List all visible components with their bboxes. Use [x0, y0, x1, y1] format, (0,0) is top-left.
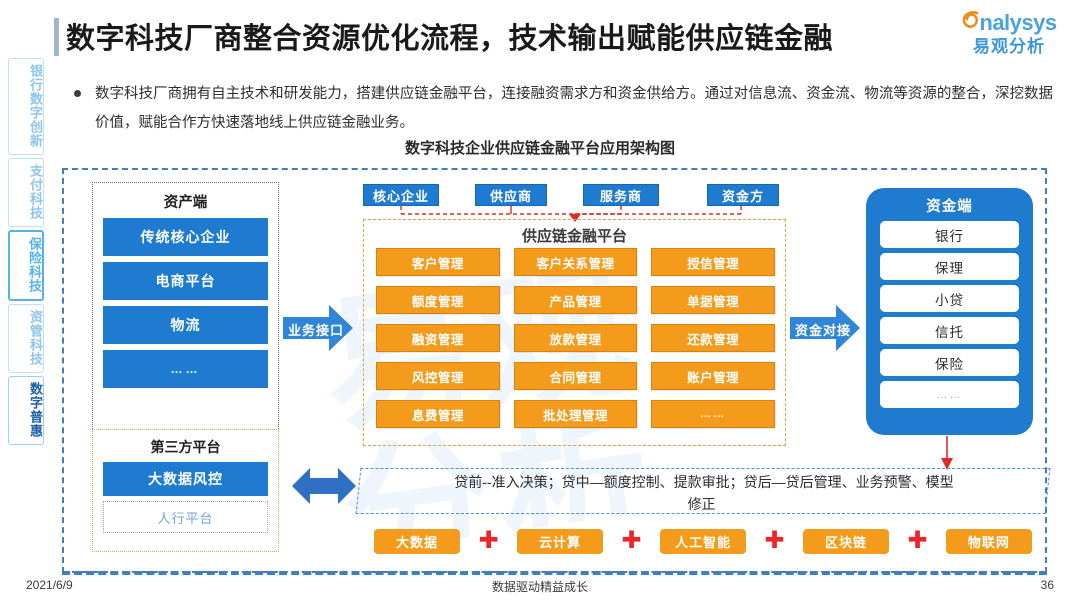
page-header: 数字科技厂商整合资源优化流程，技术输出赋能供应链金融 nalysys 易观分析	[0, 0, 1080, 68]
plus-icon-2: ✚	[621, 531, 641, 551]
fund-panel-title: 资金端	[866, 195, 1033, 216]
sidebar-item-insurance[interactable]: 保险科技	[8, 230, 44, 301]
business-interface-arrow: 业务接口	[283, 303, 353, 353]
module-quota-management[interactable]: 额度管理	[376, 286, 500, 314]
third-party-item-big-data-risk[interactable]: 大数据风控	[103, 462, 268, 496]
lifecycle-line-1: 贷前--准入决策；贷中—额度控制、提款审批；贷后—贷后管理、业务预警、模型	[382, 471, 1026, 493]
module-interest-fee[interactable]: 息费管理	[376, 400, 500, 428]
sidebar-item-inclusive-finance[interactable]: 数字普惠	[8, 376, 44, 445]
fund-side-panel: 资金端 银行 保理 小贷 信托 保险 ……	[866, 188, 1033, 435]
platform-title: 供应链金融平台	[364, 225, 785, 246]
plus-icon-1: ✚	[478, 531, 498, 551]
asset-panel-title: 资产端	[93, 191, 278, 212]
tech-cloud-computing[interactable]: 云计算	[517, 529, 603, 554]
footer-divider	[62, 571, 1047, 575]
tech-blockchain[interactable]: 区块链	[803, 529, 889, 554]
technology-stack-row: 大数据 ✚ 云计算 ✚ 人工智能 ✚ 区块链 ✚ 物联网	[358, 524, 1048, 558]
diagram-title: 数字科技企业供应链金融平台应用架构图	[0, 137, 1080, 158]
module-risk-control[interactable]: 风控管理	[376, 362, 500, 390]
asset-item-ecommerce[interactable]: 电商平台	[103, 262, 268, 300]
logo-wordmark: nalysys	[950, 10, 1068, 37]
asset-side-panel: 资产端 传统核心企业 电商平台 物流 ……	[92, 182, 279, 435]
asset-item-logistics[interactable]: 物流	[103, 306, 268, 344]
analysys-logo: nalysys 易观分析	[950, 10, 1068, 62]
tech-iot[interactable]: 物联网	[946, 529, 1032, 554]
fund-item-factoring[interactable]: 保理	[880, 253, 1019, 280]
platform-module-grid: 客户管理 客户关系管理 授信管理 额度管理 产品管理 单据管理 融资管理 放款管…	[376, 248, 775, 428]
third-party-item-pboc-platform[interactable]: 人行平台	[103, 501, 268, 533]
fund-item-insurance[interactable]: 保险	[880, 349, 1019, 376]
business-interface-label: 业务接口	[287, 320, 345, 339]
intro-paragraph: 数字科技厂商拥有自主技术和研发能力，搭建供应链金融平台，连接融资需求方和资金供给…	[95, 80, 1053, 138]
logo-chinese-text: 易观分析	[950, 37, 1068, 57]
asset-item-more[interactable]: ……	[103, 350, 268, 388]
supply-chain-platform: 供应链金融平台 客户管理 客户关系管理 授信管理 额度管理 产品管理 单据管理 …	[363, 219, 786, 446]
tech-artificial-intelligence[interactable]: 人工智能	[660, 529, 746, 554]
sidebar-item-asset-management[interactable]: 资管科技	[8, 304, 44, 373]
role-chip-funder[interactable]: 资金方	[707, 184, 779, 206]
sidebar-item-payment[interactable]: 支付科技	[8, 158, 44, 227]
page-title: 数字科技厂商整合资源优化流程，技术输出赋能供应链金融	[66, 15, 833, 57]
footer-slogan: 数据驱动精益成长	[0, 578, 1080, 595]
plus-icon-3: ✚	[764, 531, 784, 551]
module-document-management[interactable]: 单据管理	[651, 286, 775, 314]
tech-big-data[interactable]: 大数据	[374, 529, 460, 554]
bidirectional-arrow-icon	[292, 462, 356, 510]
fund-to-lifecycle-arrow-icon	[940, 436, 954, 470]
asset-item-core-enterprise[interactable]: 传统核心企业	[103, 218, 268, 256]
role-chip-core-enterprise[interactable]: 核心企业	[363, 184, 439, 206]
fund-item-trust[interactable]: 信托	[880, 317, 1019, 344]
third-party-title: 第三方平台	[93, 437, 278, 457]
module-crm[interactable]: 客户关系管理	[514, 248, 638, 276]
module-batch-processing[interactable]: 批处理管理	[514, 400, 638, 428]
module-customer-management[interactable]: 客户管理	[376, 248, 500, 276]
loan-lifecycle-banner: 贷前--准入决策；贷中—额度控制、提款审批；贷后—贷后管理、业务预警、模型 修正	[356, 468, 1051, 514]
module-financing-management[interactable]: 融资管理	[376, 324, 500, 352]
module-product-management[interactable]: 产品管理	[514, 286, 638, 314]
fund-docking-arrow: 资金对接	[790, 303, 860, 353]
module-more[interactable]: ……	[651, 400, 775, 428]
module-loan-disbursement[interactable]: 放款管理	[514, 324, 638, 352]
footer-page-number: 36	[1041, 578, 1054, 592]
role-chip-supplier[interactable]: 供应商	[475, 184, 547, 206]
sidebar-nav[interactable]: 银行数字创新 支付科技 保险科技 资管科技 数字普惠	[8, 58, 44, 448]
fund-docking-label: 资金对接	[794, 320, 852, 339]
plus-icon-4: ✚	[907, 531, 927, 551]
module-contract-management[interactable]: 合同管理	[514, 362, 638, 390]
lifecycle-line-2: 修正	[380, 493, 1024, 515]
module-account-management[interactable]: 账户管理	[651, 362, 775, 390]
role-chip-service-provider[interactable]: 服务商	[583, 184, 659, 206]
third-party-panel: 第三方平台 大数据风控 人行平台	[92, 429, 279, 552]
title-accent-bar	[54, 18, 59, 56]
logo-word-text: nalysys	[979, 10, 1056, 35]
fund-item-more[interactable]: ……	[880, 381, 1019, 408]
bullet-point-icon	[74, 90, 81, 97]
module-credit-granting[interactable]: 授信管理	[651, 248, 775, 276]
fund-item-bank[interactable]: 银行	[880, 221, 1019, 248]
module-repayment-management[interactable]: 还款管理	[651, 324, 775, 352]
fund-item-microloan[interactable]: 小贷	[880, 285, 1019, 312]
